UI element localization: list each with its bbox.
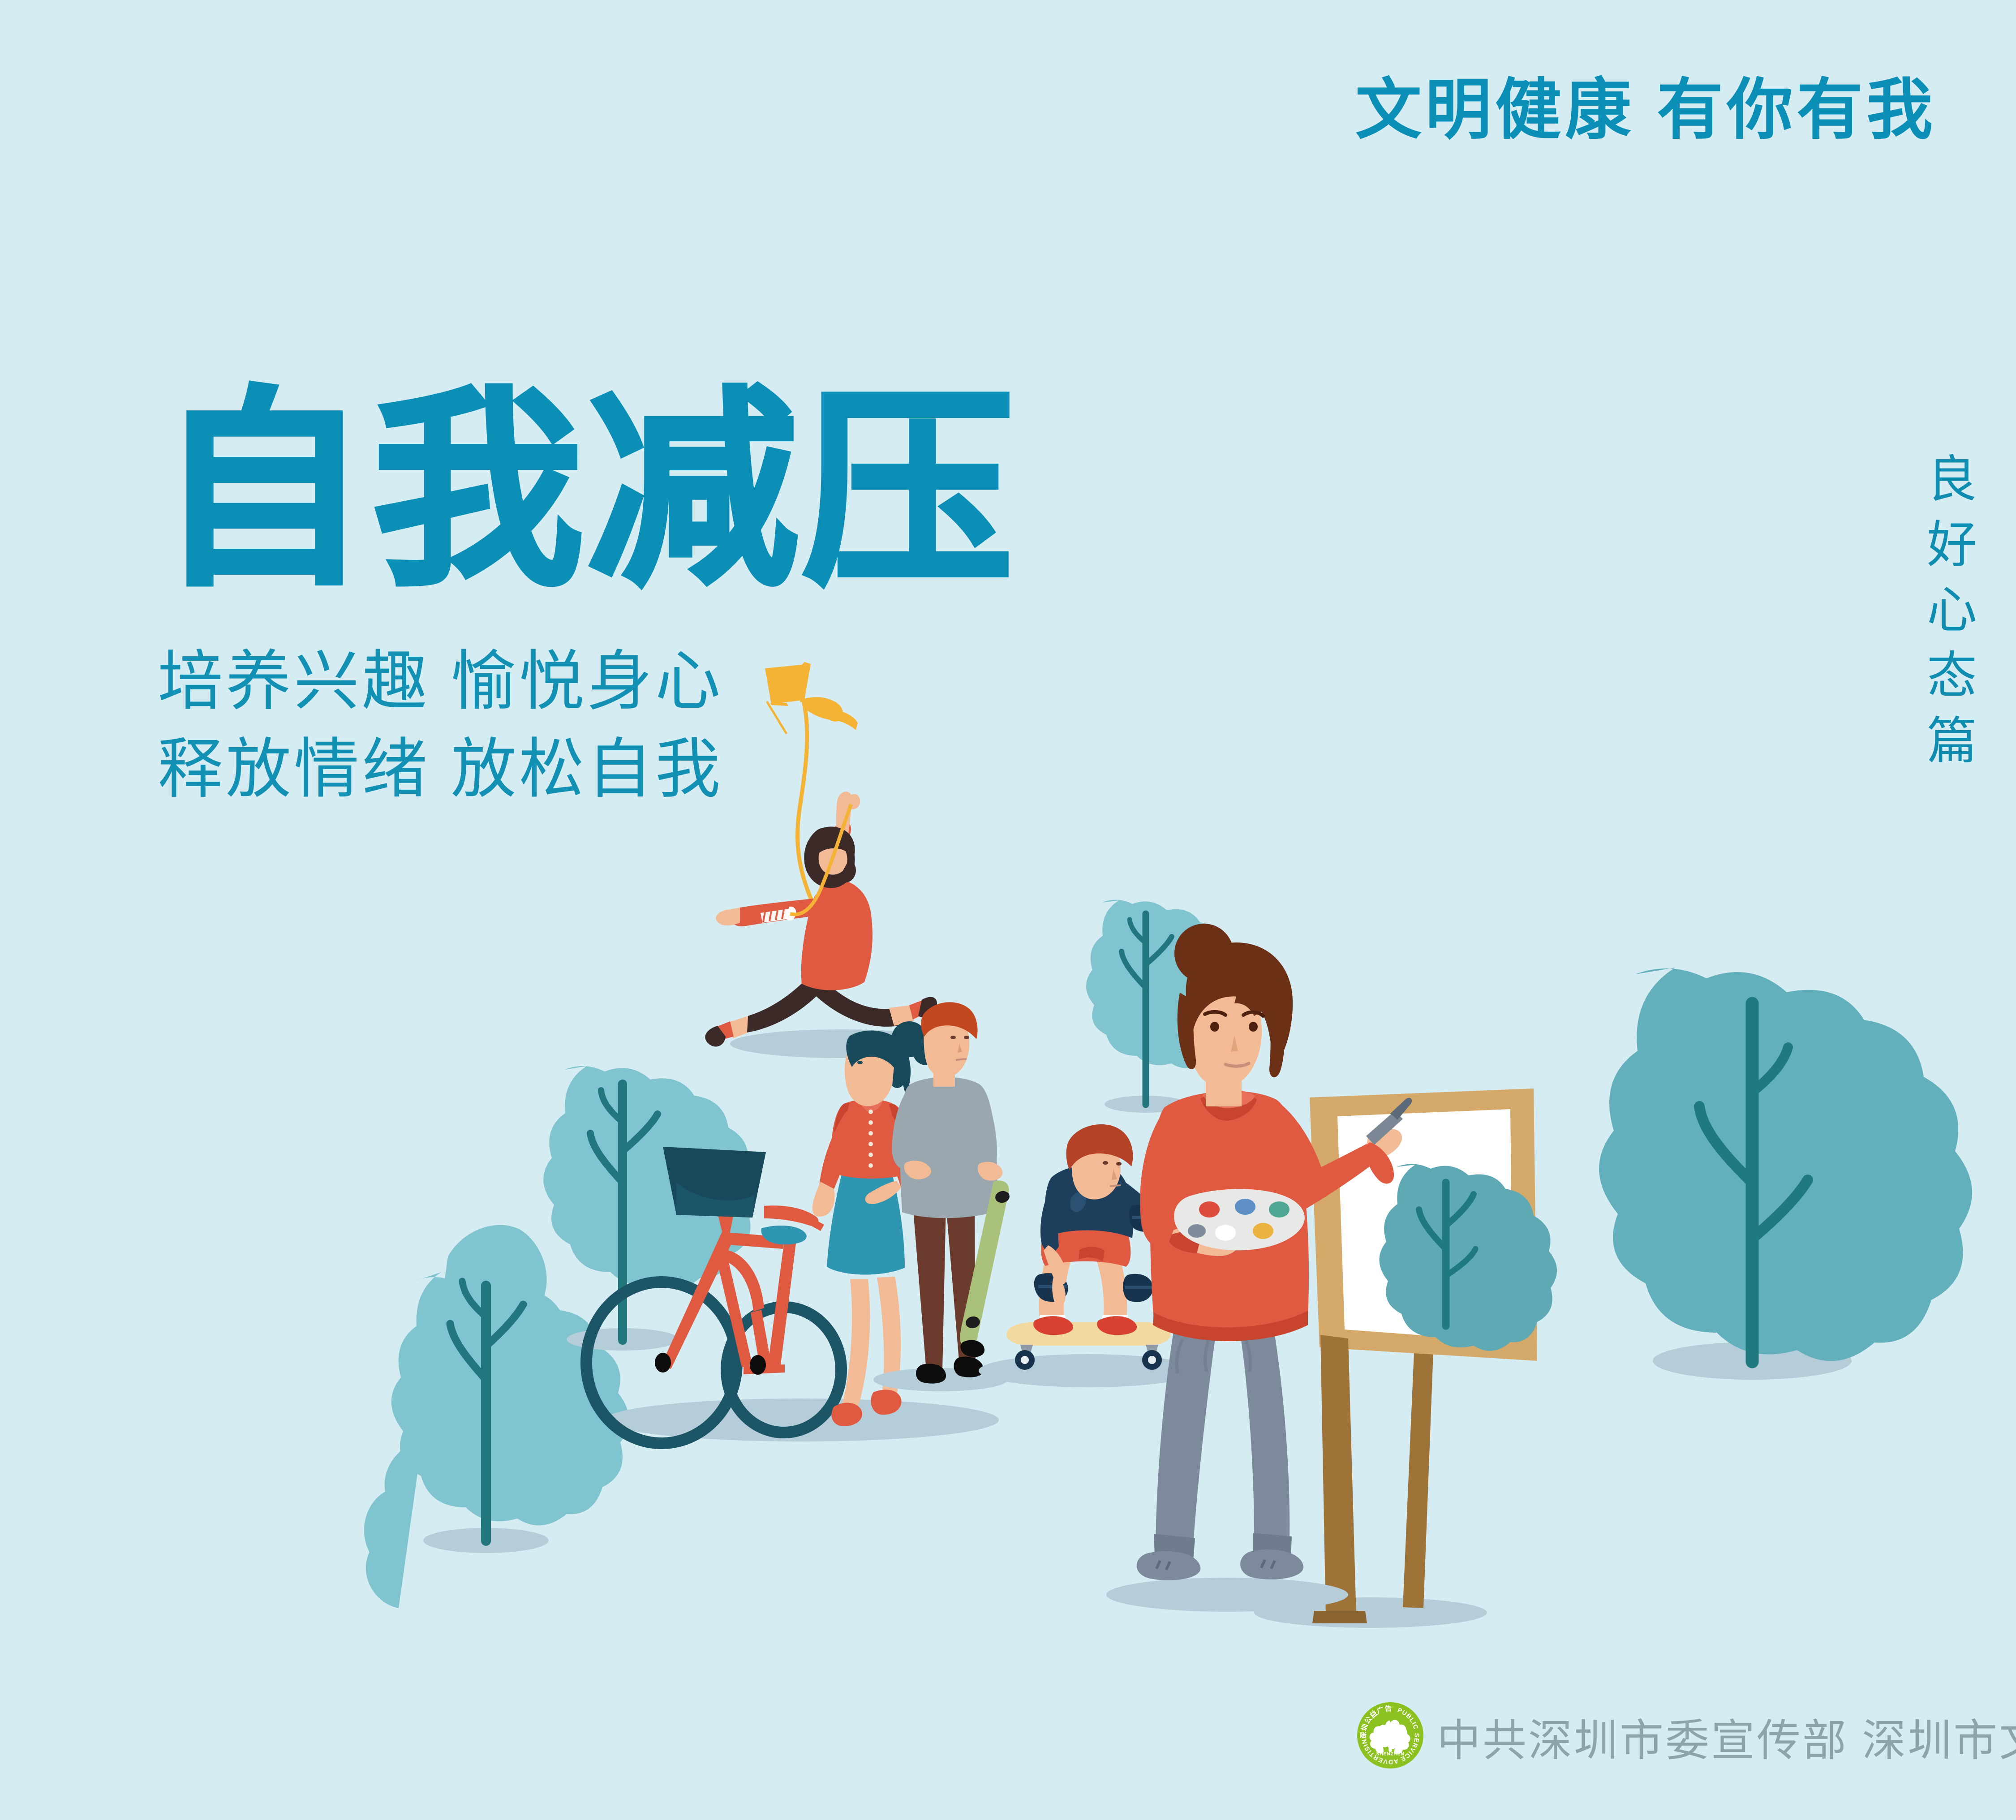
poster-canvas: 文明健康 有你有我 自我减压 培养兴趣 愉悦身心 释放情绪 放松自我 良好心态篇… [0,0,2016,1820]
figure-standing-skater [873,1002,1010,1391]
tree-left [543,1066,756,1351]
tree-center [1086,900,1247,1113]
tree-far-left [364,1225,629,1608]
logo-city-label: SHENZHEN [1376,1751,1405,1756]
subtitle-line-2: 释放情绪 放松自我 [158,736,723,802]
kite [765,662,858,977]
illustration-scene [0,0,2016,1820]
page-title: 自我减压 [158,386,1018,597]
public-service-advertising-logo: 深圳公益广告 PUBLIC SERVICE ADVERTISING SHENZH… [1357,1702,1423,1768]
subtitle-line-1: 培养兴趣 愉悦身心 [158,649,723,714]
figure-painter [1106,924,1412,1612]
tree-right-large [1599,968,1972,1380]
easel [1254,1089,1557,1628]
figure-kite-flyer [705,792,954,1058]
footer-organizations: 中共深圳市委宣传部 深圳市文明办 [1437,1718,2016,1762]
figure-cyclist [586,1021,999,1443]
figure-riding-skater [979,1124,1212,1387]
painting-tree [1379,1164,1557,1351]
series-label-vertical: 良好心态篇 [1922,452,1972,779]
header-slogan: 文明健康 有你有我 [1355,77,1936,143]
